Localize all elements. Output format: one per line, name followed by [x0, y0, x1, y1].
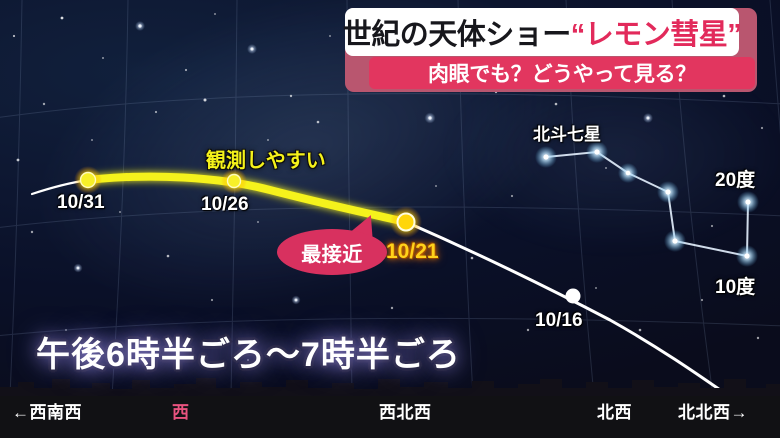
date-label-1021: 10/21 [386, 240, 439, 264]
direction-label-nnw: 北北西→ [678, 398, 748, 423]
headline-sub-box: 肉眼でも？どうやって見る？ [369, 57, 755, 89]
closest-approach-label: 最接近 [301, 238, 363, 267]
direction-label-nw: 北西 [597, 398, 632, 423]
elevation-label-20: 20度 [715, 165, 755, 192]
headline-sub-text: 肉眼でも？どうやって見る？ [428, 58, 696, 88]
label-big-dipper: 北斗七星 [533, 120, 601, 145]
elevation-label-10: 10度 [715, 272, 755, 299]
closest-approach-bubble: 最接近 [277, 229, 387, 275]
date-label-1026: 10/26 [201, 194, 249, 216]
viewing-time-caption: 午後6時半ごろ〜7時半ごろ [36, 327, 461, 376]
headline-main-text: 世紀の天体ショー“レモン彗星” [343, 11, 742, 53]
direction-label-w: 西 [172, 398, 190, 423]
headline-main-highlight: “レモン彗星” [571, 19, 742, 51]
direction-label-wsw: ←西南西 [12, 398, 82, 423]
date-label-1031: 10/31 [57, 192, 105, 214]
date-label-1016: 10/16 [535, 310, 583, 332]
headline-main-prefix: 世紀の天体ショー [343, 19, 571, 51]
sky-map-infographic: 観測しやすい 北斗七星 10/31 10/26 10/21 10/16 20度 … [0, 0, 780, 438]
headline-main-box: 世紀の天体ショー“レモン彗星” [345, 8, 739, 56]
annotation-easy-to-observe: 観測しやすい [206, 144, 326, 173]
direction-label-wnw: 西北西 [379, 398, 432, 423]
